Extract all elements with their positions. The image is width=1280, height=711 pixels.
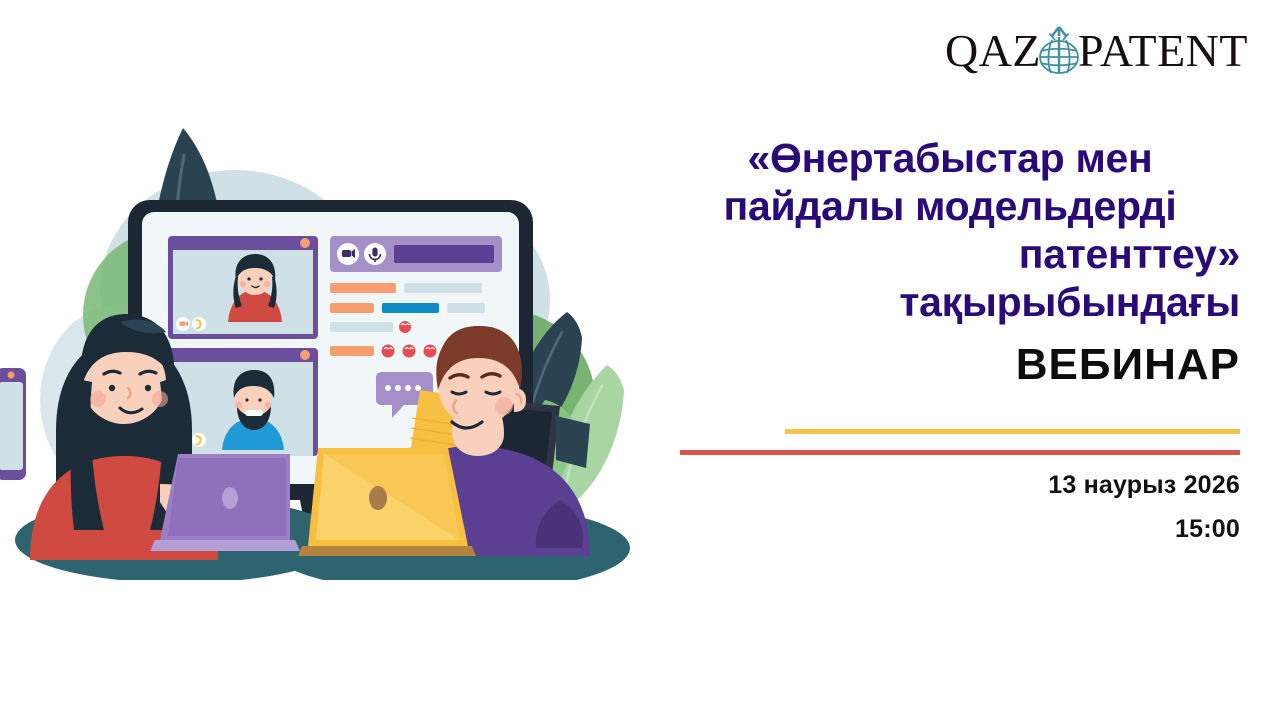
reaction-row bbox=[382, 345, 437, 358]
announcement-text-block: «Өнертабыстар мен пайдалы модельдерді па… bbox=[660, 134, 1240, 390]
title-line-2: пайдалы модельдерді bbox=[660, 182, 1240, 230]
divider-red bbox=[680, 450, 1240, 455]
event-time: 15:00 bbox=[760, 512, 1240, 546]
video-conference-illustration bbox=[0, 100, 660, 580]
event-datetime-block: 13 наурыз 2026 15:00 bbox=[760, 468, 1240, 546]
phone-device bbox=[0, 368, 26, 480]
title-line-1: «Өнертабыстар мен bbox=[660, 134, 1240, 182]
logo-text-patent: PATENT bbox=[1078, 28, 1248, 74]
webinar-title: «Өнертабыстар мен пайдалы модельдерді па… bbox=[660, 134, 1240, 326]
title-line-4: тақырыбындағы bbox=[660, 278, 1240, 326]
shanyrak-globe-emblem-icon bbox=[1036, 24, 1082, 80]
logo-text-qaz: QAZ bbox=[945, 28, 1041, 74]
webinar-kicker: ВЕБИНАР bbox=[660, 340, 1240, 390]
divider-yellow bbox=[785, 429, 1240, 434]
laptop-yellow bbox=[298, 448, 476, 556]
video-tile-woman bbox=[168, 236, 318, 339]
event-date: 13 наурыз 2026 bbox=[760, 468, 1240, 502]
qazpatent-logo[interactable]: QAZ PATENT bbox=[963, 22, 1248, 80]
webinar-poster: QAZ PATENT «Өнертабыстар мен bbox=[0, 0, 1280, 711]
title-line-3: патенттеу» bbox=[660, 230, 1240, 278]
screen-toolbar bbox=[330, 236, 502, 272]
